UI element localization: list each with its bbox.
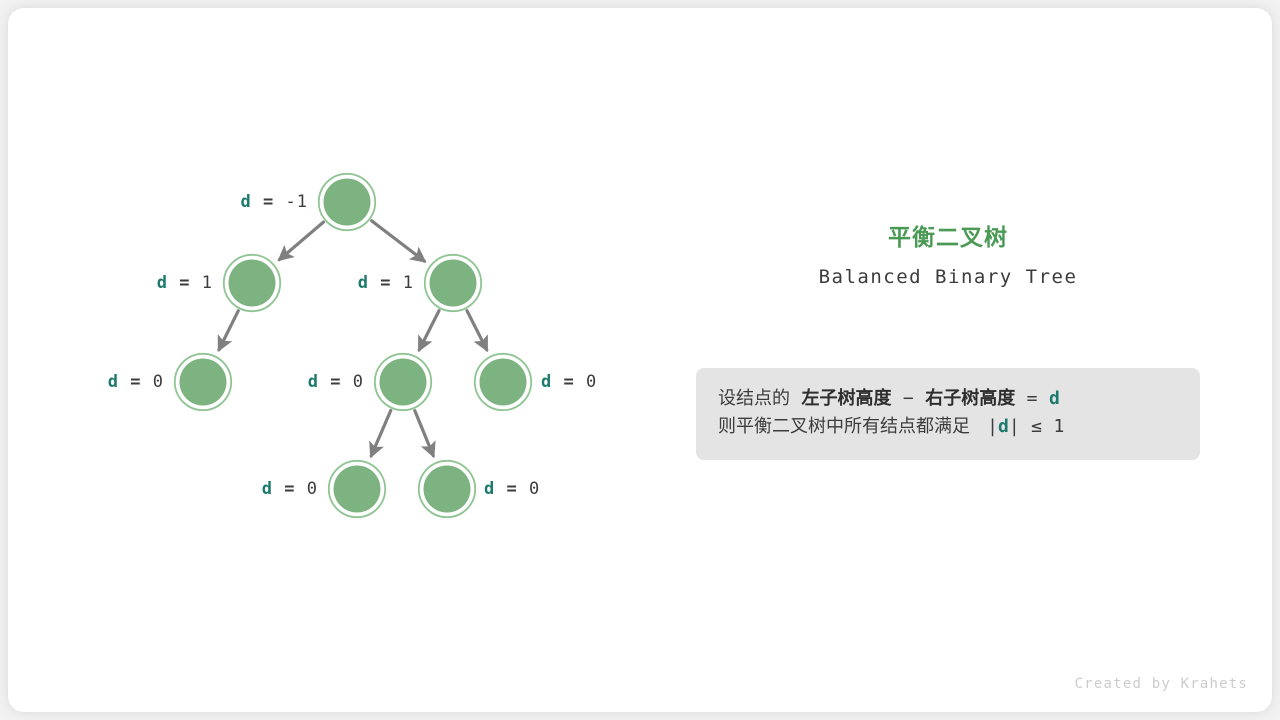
node-fill-disc — [334, 466, 381, 513]
formula-prefix-2: 则平衡二叉树中所有结点都满足 — [718, 416, 970, 437]
tree-edge — [372, 221, 425, 261]
formula-left-subtree-height: 左子树高度 — [801, 388, 891, 409]
label-variable: d — [358, 273, 369, 293]
node-fill-disc — [380, 359, 427, 406]
formula-equals-operator: = — [1027, 388, 1038, 409]
panel-title: 平衡二叉树 — [696, 224, 1200, 254]
label-variable: d — [108, 372, 119, 392]
tree-node — [375, 354, 431, 410]
node-balance-label: d = 0 — [108, 372, 164, 392]
label-equals: = — [552, 372, 586, 392]
node-fill-disc — [424, 466, 471, 513]
tree-node — [319, 174, 375, 230]
node-balance-label: d = 0 — [308, 372, 364, 392]
label-equals: = — [252, 192, 286, 212]
label-equals: = — [273, 479, 307, 499]
node-balance-label: d = 1 — [358, 273, 414, 293]
credit-text: Created by Krahets — [1075, 676, 1248, 692]
label-equals: = — [319, 372, 353, 392]
node-fill-disc — [180, 359, 227, 406]
label-equals: = — [119, 372, 153, 392]
formula-line-2: 则平衡二叉树中所有结点都满足 |d| ≤ 1 — [718, 413, 1178, 441]
formula-variable-d: d — [1049, 388, 1060, 409]
formula-minus-operator: − — [903, 388, 914, 409]
tree-node — [419, 461, 475, 517]
tree-node — [175, 354, 231, 410]
abs-bar-close: | — [1009, 416, 1020, 437]
tree-node — [329, 461, 385, 517]
label-equals: = — [369, 273, 403, 293]
tree-nodes — [175, 174, 531, 517]
node-balance-label: d = 0 — [541, 372, 597, 392]
label-variable: d — [484, 479, 495, 499]
label-variable: d — [241, 192, 252, 212]
node-balance-label: d = -1 — [241, 192, 308, 212]
formula-right-subtree-height: 右子树高度 — [925, 388, 1015, 409]
label-equals: = — [495, 479, 529, 499]
label-value: 1 — [202, 273, 213, 293]
label-value: 0 — [586, 372, 597, 392]
label-equals: = — [168, 273, 202, 293]
node-fill-disc — [430, 260, 477, 307]
label-variable: d — [308, 372, 319, 392]
tree-edge — [219, 311, 238, 350]
tree-edge — [371, 410, 391, 455]
formula-prefix-1: 设结点的 — [718, 388, 790, 409]
label-value: 0 — [153, 372, 164, 392]
node-fill-disc — [324, 179, 371, 226]
tree-edge — [467, 311, 487, 350]
node-balance-label: d = 0 — [262, 479, 318, 499]
label-variable: d — [541, 372, 552, 392]
info-panel: 平衡二叉树 Balanced Binary Tree — [696, 224, 1200, 288]
node-balance-label: d = 1 — [157, 273, 213, 293]
formula-bound-value: 1 — [1053, 416, 1064, 437]
formula-box: 设结点的 左子树高度 − 右子树高度 = d 则平衡二叉树中所有结点都满足 |d… — [696, 368, 1200, 460]
tree-node — [224, 255, 280, 311]
node-fill-disc — [229, 260, 276, 307]
node-fill-disc — [480, 359, 527, 406]
abs-bar-open: | — [987, 416, 998, 437]
diagram-page: d = -1d = 1d = 1d = 0d = 0d = 0d = 0d = … — [0, 0, 1280, 720]
panel-subtitle: Balanced Binary Tree — [696, 266, 1200, 288]
binary-tree-graphic — [0, 0, 1280, 720]
tree-edge — [419, 311, 439, 350]
label-value: 0 — [307, 479, 318, 499]
node-balance-label: d = 0 — [484, 479, 540, 499]
label-value: 0 — [353, 372, 364, 392]
tree-edge — [415, 411, 434, 456]
tree-node — [425, 255, 481, 311]
label-value: 0 — [529, 479, 540, 499]
label-value: 1 — [403, 273, 414, 293]
label-value: -1 — [286, 192, 308, 212]
label-variable: d — [262, 479, 273, 499]
formula-line-1: 设结点的 左子树高度 − 右子树高度 = d — [718, 385, 1178, 413]
formula-relation-operator: ≤ — [1031, 416, 1042, 437]
label-variable: d — [157, 273, 168, 293]
formula-variable-d-abs: d — [998, 416, 1009, 437]
tree-node — [475, 354, 531, 410]
tree-edge — [279, 222, 323, 260]
